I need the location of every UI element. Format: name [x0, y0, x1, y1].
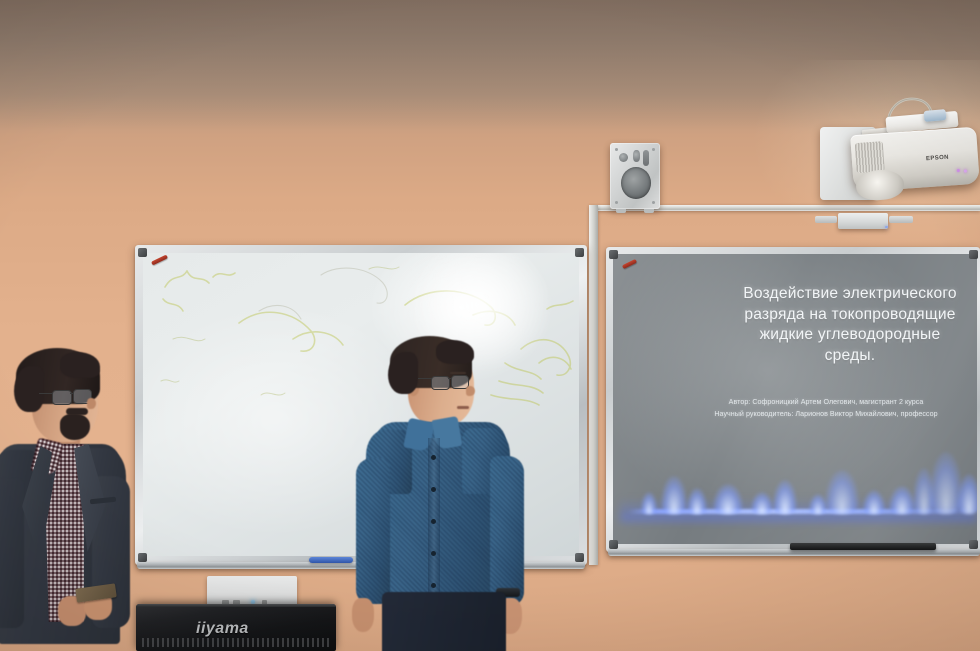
eyeglasses-temple	[418, 378, 432, 379]
slide-title-line-1: Воздействие электрического	[613, 284, 977, 305]
shirt-sleeve-left	[356, 458, 390, 604]
speaker-screw-bl	[615, 201, 618, 204]
classroom-photo-scene: EPSON Воздействие электрического разряда…	[0, 0, 980, 651]
hair-fringe	[436, 340, 474, 364]
speaker-screw-br	[652, 201, 655, 204]
blazer-sleeve-left	[0, 478, 24, 628]
slide-subtitle: Автор: Софроницкий Артем Олегович, магис…	[613, 396, 977, 421]
speaker-bracket-foot-right	[644, 209, 654, 213]
projection-board-tray	[608, 549, 980, 556]
iiyama-monitor[interactable]: iiyama	[136, 604, 336, 651]
beard	[60, 414, 90, 440]
speaker-screw-tr	[652, 148, 655, 151]
slide-title-line-4: среды.	[613, 346, 977, 367]
shirt-button	[431, 551, 436, 556]
whiteboard-corner-tl	[138, 248, 147, 257]
board-corner-tr	[969, 250, 978, 259]
wall-rail-vertical-left	[589, 205, 598, 565]
flame-tuft	[751, 492, 773, 514]
person-center-student-presenter	[330, 330, 560, 651]
eyebrow	[450, 372, 466, 374]
projector-connector-block	[924, 109, 947, 122]
flame-tuft	[661, 476, 687, 514]
slide-plasma-flame-graphic	[613, 444, 977, 530]
shirt-sleeve-right	[490, 456, 524, 606]
moustache	[66, 408, 88, 415]
slide-title-line-2: разряда на токопроводящие	[613, 305, 977, 326]
projector-status-led-2	[964, 169, 967, 172]
shirt-button	[431, 519, 436, 524]
speaker-bracket-foot-left	[616, 209, 626, 213]
nose	[87, 398, 96, 409]
hair-fringe	[60, 352, 100, 378]
speaker-tweeter	[619, 153, 628, 162]
wall-speaker	[610, 143, 660, 209]
board-corner-tl	[609, 250, 618, 259]
hair-side-sweep	[388, 352, 418, 394]
whiteboard-corner-tr	[575, 248, 584, 257]
monitor-brand-label: iiyama	[196, 620, 249, 638]
mouth	[457, 406, 469, 409]
shirt-button	[431, 487, 436, 492]
flame-tuft	[773, 480, 797, 514]
sensor-bar-led	[885, 226, 888, 228]
projector-vent	[855, 141, 885, 173]
person-left-presenter-supervisor	[0, 338, 156, 651]
eyeglasses-bridge	[70, 393, 74, 394]
eyeglasses-temple	[39, 393, 53, 394]
flame-tuft	[687, 488, 707, 514]
monitor-vent-grille	[142, 638, 330, 647]
board-corner-bl	[609, 540, 618, 549]
slide-author-line: Автор: Софроницкий Артем Олегович, магис…	[613, 396, 977, 408]
slide-title-line-3: жидкие углеводородные	[613, 325, 977, 346]
flame-tuft	[713, 484, 743, 514]
monitor-top-edge	[136, 604, 336, 607]
projector-status-led	[957, 169, 960, 172]
eyeglasses-lens-left	[52, 390, 72, 405]
speaker-screw-tl	[615, 148, 618, 151]
sensor-clip-left	[815, 216, 837, 223]
speaker-woofer	[621, 167, 651, 199]
hand-left	[352, 598, 374, 632]
projector-brand-label: EPSON	[926, 155, 949, 163]
black-marker[interactable]	[790, 543, 936, 550]
whiteboard-corner-br	[575, 553, 584, 562]
nose	[466, 386, 475, 396]
flame-tuft	[889, 486, 915, 514]
trousers	[382, 592, 506, 651]
slide-supervisor-line: Научный руководитель: Ларионов Виктор Ми…	[613, 408, 977, 420]
hair-side	[14, 366, 44, 412]
flame-tuft	[825, 470, 859, 514]
projection-board-surface-wrap: Воздействие электрического разряда на то…	[613, 254, 977, 544]
shirt-button	[431, 583, 436, 588]
eyeglasses-bridge	[448, 378, 452, 379]
board-corner-br	[969, 540, 978, 549]
interactive-board-sensor-bar	[838, 213, 888, 229]
slide-title: Воздействие электрического разряда на то…	[613, 284, 977, 366]
speaker-port	[643, 150, 649, 166]
shirt-button	[431, 455, 436, 460]
interactive-projection-board[interactable]: Воздействие электрического разряда на то…	[606, 247, 980, 552]
flame-tuft	[863, 490, 885, 514]
sensor-clip-right	[889, 216, 913, 223]
flame-tuft	[641, 492, 657, 514]
speaker-tweeter-secondary	[633, 150, 640, 162]
